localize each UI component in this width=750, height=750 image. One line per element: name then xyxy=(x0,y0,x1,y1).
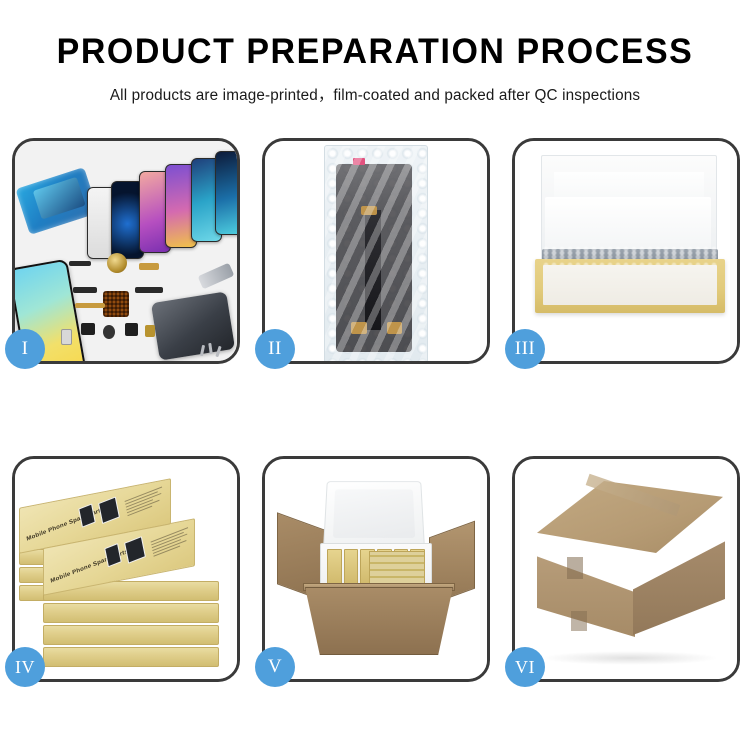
header: PRODUCT PREPARATION PROCESS All products… xyxy=(0,0,750,105)
carton-shadow xyxy=(541,651,719,665)
steps-grid: I II xyxy=(12,138,740,682)
kraft-tray-box xyxy=(535,259,725,313)
connector-chip-icon xyxy=(103,291,129,317)
stacked-box-3 xyxy=(43,603,219,623)
step-badge-3: III xyxy=(505,329,545,369)
step-image-6 xyxy=(515,459,737,679)
step-badge-4: IV xyxy=(5,647,45,687)
carton-seam-lower xyxy=(571,611,587,631)
flex-cable-2 xyxy=(75,303,105,308)
screws-group xyxy=(199,343,227,359)
tray-inner-wall xyxy=(543,265,717,305)
step-card-5: V xyxy=(262,456,490,682)
qc-sticker xyxy=(353,158,365,165)
lcd-flex-cable xyxy=(365,210,381,330)
phone-screen-navy xyxy=(215,151,237,235)
box-stack: Mobile Phone Spare Parts Mobile Phone Sp… xyxy=(15,469,237,679)
box-print-thumb-2 xyxy=(98,496,120,524)
box-print-text-lines-2 xyxy=(151,527,192,559)
small-part-2 xyxy=(103,325,115,339)
connector-bottom-right xyxy=(387,322,402,334)
flex-cable-1 xyxy=(73,287,97,293)
box-print-thumb-4 xyxy=(124,536,146,564)
step-card-2: II xyxy=(262,138,490,364)
small-part-5 xyxy=(61,329,72,345)
step-image-5 xyxy=(265,459,487,679)
step-badge-1: I xyxy=(5,329,45,369)
step-badge-5: V xyxy=(255,647,295,687)
step-image-2 xyxy=(265,141,487,361)
small-part-4 xyxy=(145,325,155,337)
phone-screen-fan xyxy=(81,147,237,257)
connector-bottom-left xyxy=(351,322,367,334)
box-print-thumb-1 xyxy=(78,503,96,527)
shipping-carton-open xyxy=(305,587,453,655)
page-title: PRODUCT PREPARATION PROCESS xyxy=(11,34,739,71)
step-card-4: Mobile Phone Spare Parts Mobile Phone Sp… xyxy=(12,456,240,682)
stacked-box-5 xyxy=(43,647,219,667)
carton-seam-upper xyxy=(567,557,583,579)
step-image-1 xyxy=(15,141,237,361)
step-image-4: Mobile Phone Spare Parts Mobile Phone Sp… xyxy=(15,459,237,679)
small-part-1 xyxy=(81,323,95,335)
step-card-3: III xyxy=(512,138,740,364)
step-card-6: VI xyxy=(512,456,740,682)
repair-tool-icon xyxy=(198,263,235,290)
stacked-box-4 xyxy=(43,625,219,645)
step-image-3 xyxy=(515,141,737,361)
box-print-thumb-3 xyxy=(104,543,122,567)
small-part-3 xyxy=(125,323,138,336)
step-badge-2: II xyxy=(255,329,295,369)
page-subtitle: All products are image-printed，film-coat… xyxy=(6,83,745,105)
flex-cable-5 xyxy=(69,261,91,266)
step-badge-6: VI xyxy=(505,647,545,687)
step-card-1: I xyxy=(12,138,240,364)
box-print-text-lines-1 xyxy=(125,487,166,519)
flex-cable-3 xyxy=(135,287,163,293)
connector-top xyxy=(361,206,377,215)
vibration-motor-icon xyxy=(107,253,127,273)
product-preparation-infographic: PRODUCT PREPARATION PROCESS All products… xyxy=(0,0,750,750)
styrofoam-lid xyxy=(323,481,425,547)
flex-cable-4 xyxy=(139,263,159,270)
bubble-wrap-bag xyxy=(324,145,428,361)
